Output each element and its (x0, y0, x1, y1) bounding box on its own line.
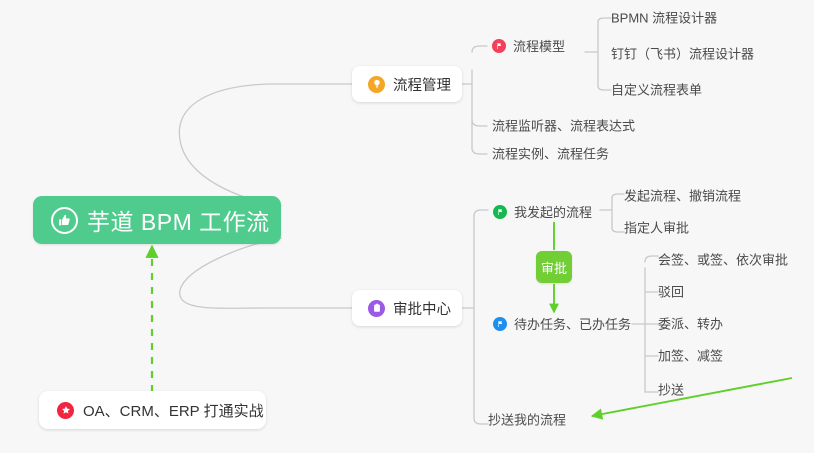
mindmap-canvas: 芋道 BPM 工作流 流程管理 审批中心 流程模型 (0, 0, 814, 453)
callout-integration-label: OA、CRM、ERP 打通实战 (83, 400, 264, 421)
leaf-process-instance-label: 流程实例、流程任务 (492, 148, 609, 161)
leaf-add-remove-sign-label: 加签、减签 (658, 350, 723, 363)
branch-label-approval-center: 审批中心 (393, 298, 451, 319)
node-todo-done-tasks-label: 待办任务、已办任务 (514, 318, 631, 331)
branch-node-approval-center[interactable]: 审批中心 (352, 290, 462, 326)
leaf-countersign-label: 会签、或签、依次审批 (658, 254, 788, 267)
leaf-bpmn-designer-label: BPMN 流程设计器 (611, 12, 717, 25)
leaf-cc-label: 抄送 (658, 384, 684, 397)
leaf-start-cancel-process-label: 发起流程、撤销流程 (624, 190, 741, 203)
branch-node-process-management[interactable]: 流程管理 (352, 66, 462, 102)
leaf-dingtalk-designer[interactable]: 钉钉（飞书）流程设计器 (611, 48, 754, 61)
leaf-custom-form-label: 自定义流程表单 (611, 84, 702, 97)
flag-green-icon (493, 205, 507, 219)
leaf-cc-to-me-label: 抄送我的流程 (488, 414, 566, 427)
leaf-dingtalk-designer-label: 钉钉（飞书）流程设计器 (611, 48, 754, 61)
branch-label-process-management: 流程管理 (393, 74, 451, 95)
node-my-initiated-label: 我发起的流程 (514, 206, 592, 219)
leaf-assignee-approval[interactable]: 指定人审批 (624, 222, 689, 235)
callout-integration[interactable]: OA、CRM、ERP 打通实战 (39, 391, 266, 429)
lightbulb-icon (368, 76, 385, 93)
flag-red-icon (492, 39, 506, 53)
node-process-model-label: 流程模型 (513, 40, 565, 53)
leaf-process-instance[interactable]: 流程实例、流程任务 (492, 148, 609, 161)
leaf-reject-label: 驳回 (658, 286, 684, 299)
root-node[interactable]: 芋道 BPM 工作流 (33, 196, 281, 244)
node-process-model[interactable]: 流程模型 (492, 39, 565, 53)
leaf-start-cancel-process[interactable]: 发起流程、撤销流程 (624, 190, 741, 203)
leaf-cc[interactable]: 抄送 (658, 384, 684, 397)
flag-blue-icon (493, 317, 507, 331)
leaf-cc-to-me[interactable]: 抄送我的流程 (488, 414, 566, 427)
clipboard-icon (368, 300, 385, 317)
leaf-delegate-transfer[interactable]: 委派、转办 (658, 318, 723, 331)
leaf-assignee-approval-label: 指定人审批 (624, 222, 689, 235)
leaf-process-listener-label: 流程监听器、流程表达式 (492, 120, 635, 133)
leaf-process-listener[interactable]: 流程监听器、流程表达式 (492, 120, 635, 133)
approval-tag: 审批 (536, 251, 572, 283)
leaf-reject[interactable]: 驳回 (658, 286, 684, 299)
leaf-custom-form[interactable]: 自定义流程表单 (611, 84, 702, 97)
leaf-add-remove-sign[interactable]: 加签、减签 (658, 350, 723, 363)
leaf-countersign[interactable]: 会签、或签、依次审批 (658, 254, 788, 267)
leaf-delegate-transfer-label: 委派、转办 (658, 318, 723, 331)
node-my-initiated[interactable]: 我发起的流程 (493, 205, 592, 219)
leaf-bpmn-designer[interactable]: BPMN 流程设计器 (611, 12, 717, 25)
thumbs-up-icon (51, 207, 78, 234)
approval-tag-label: 审批 (541, 258, 567, 277)
root-label: 芋道 BPM 工作流 (87, 203, 270, 237)
star-icon (57, 402, 74, 419)
node-todo-done-tasks[interactable]: 待办任务、已办任务 (493, 317, 631, 331)
